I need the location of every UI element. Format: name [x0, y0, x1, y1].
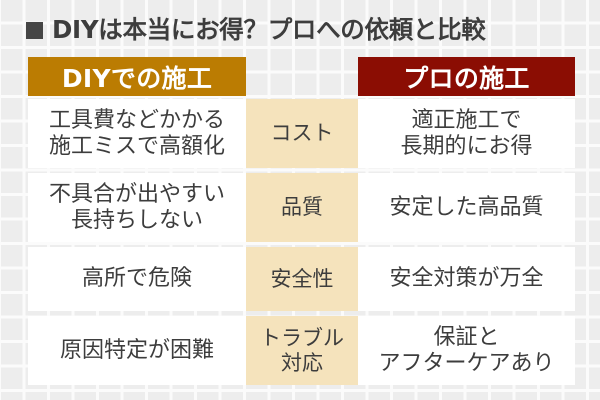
cell-diy: 高所で危険	[28, 247, 246, 311]
cell-category: 安全性	[246, 247, 358, 311]
page-title-text: DIYは本当にお得？プロへの依頼と比較	[52, 18, 486, 43]
table-row: 工具費などかかる 施工ミスで高額化 コスト 適正施工で 長期的にお得	[28, 99, 575, 168]
cell-category: トラブル 対応	[246, 316, 358, 385]
comparison-table-infographic: DIYは本当にお得？プロへの依頼と比較 DIYでの施工 プロの施工 工具費などか…	[0, 0, 600, 400]
cell-diy: 不具合が出やすい 長持ちしない	[28, 173, 246, 242]
table-row: 高所で危険 安全性 安全対策が万全	[28, 247, 575, 311]
table-row: 原因特定が困難 トラブル 対応 保証と アフターケアあり	[28, 316, 575, 385]
column-header-diy: DIYでの施工	[28, 57, 246, 96]
comparison-table-body: 工具費などかかる 施工ミスで高額化 コスト 適正施工で 長期的にお得 不具合が出…	[28, 99, 575, 390]
cell-diy: 原因特定が困難	[28, 316, 246, 385]
cell-category: 品質	[246, 173, 358, 242]
column-header-pro: プロの施工	[358, 57, 575, 96]
cell-pro: 安全対策が万全	[358, 247, 575, 311]
square-bullet-icon	[26, 22, 43, 39]
column-header-pro-label: プロの施工	[403, 59, 530, 95]
table-row: 不具合が出やすい 長持ちしない 品質 安定した高品質	[28, 173, 575, 242]
cell-pro: 保証と アフターケアあり	[358, 316, 575, 385]
cell-pro: 適正施工で 長期的にお得	[358, 99, 575, 168]
page-title: DIYは本当にお得？プロへの依頼と比較	[26, 13, 486, 47]
cell-pro: 安定した高品質	[358, 173, 575, 242]
cell-category: コスト	[246, 99, 358, 168]
column-header-diy-label: DIYでの施工	[62, 59, 212, 95]
cell-diy: 工具費などかかる 施工ミスで高額化	[28, 99, 246, 168]
